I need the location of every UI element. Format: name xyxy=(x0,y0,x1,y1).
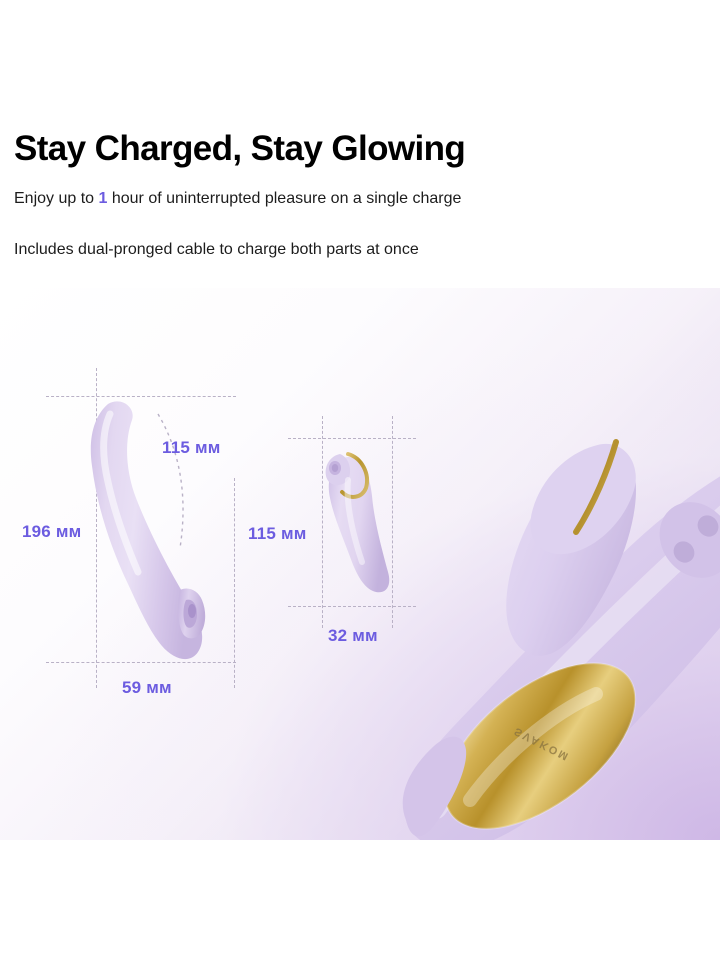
page-title: Stay Charged, Stay Glowing xyxy=(14,128,465,170)
product-infographic: Stay Charged, Stay Glowing Enjoy up to 1… xyxy=(0,0,720,960)
subtitle-battery-after: hour of uninterrupted pleasure on a sing… xyxy=(107,190,461,207)
subtitle-battery-life: Enjoy up to 1 hour of uninterrupted plea… xyxy=(14,188,461,210)
subtitle-cable: Includes dual-pronged cable to charge bo… xyxy=(14,239,419,261)
product-image-closeup xyxy=(380,428,720,840)
dimension-label-b-height: 115 мм xyxy=(248,524,307,544)
product-hero-image: 196 мм 115 мм 59 мм xyxy=(0,288,720,840)
dimension-label-a-insert: 115 мм xyxy=(162,438,221,458)
guide-line-a-right xyxy=(234,478,235,688)
subtitle-battery-before: Enjoy up to xyxy=(14,190,99,207)
dimension-label-a-width: 59 мм xyxy=(122,678,172,698)
dimension-label-a-height: 196 мм xyxy=(22,522,81,542)
dimension-label-b-width: 32 мм xyxy=(328,626,378,646)
